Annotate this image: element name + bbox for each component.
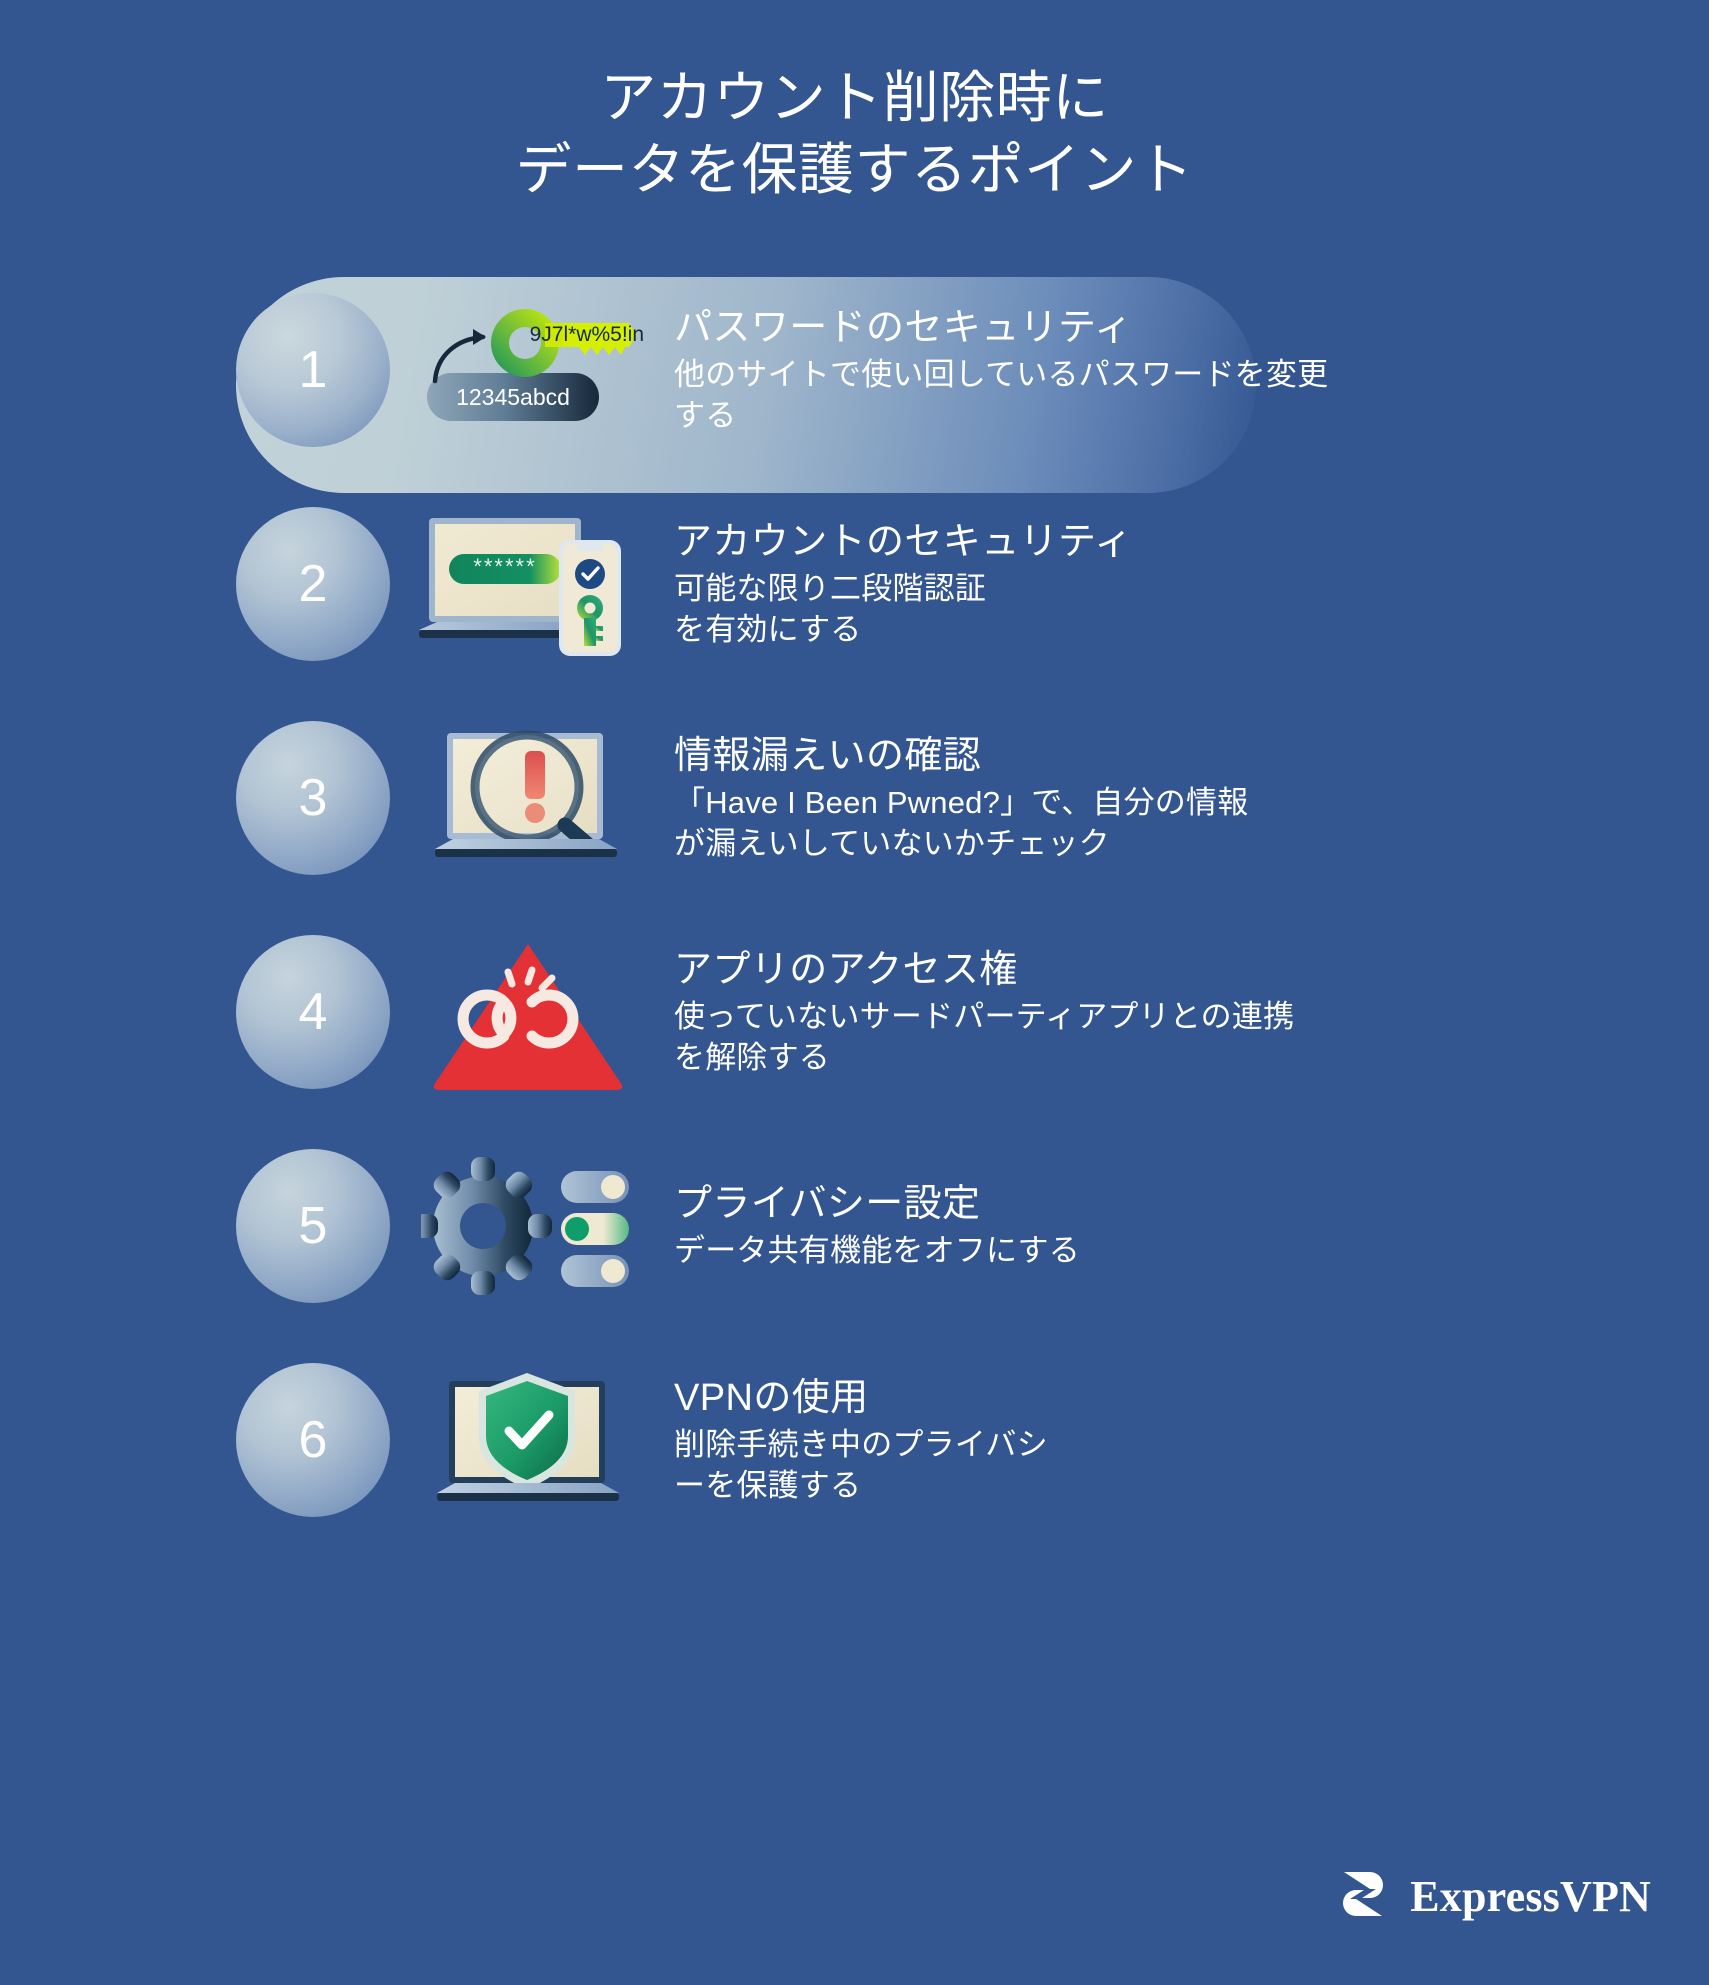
list-item-description: 削除手続き中のプライバシ ーを保護する (674, 1425, 1669, 1506)
laptop-phone-2fa-icon: ****** (408, 499, 648, 669)
page-title-line-1: アカウント削除時に (0, 62, 1709, 134)
expressvpn-logo-icon (1334, 1866, 1392, 1927)
step-number: 4 (299, 986, 328, 1038)
list-item-text: VPNの使用 削除手続き中のプライバシ ーを保護する (674, 1375, 1709, 1506)
key-password-icon: 12345abcd 9J7l*w%5!inQ (408, 285, 648, 455)
page-title-line-2: データを保護するポイント (0, 134, 1709, 206)
strong-password-label: 9J7l*w%5!inQ (530, 323, 643, 346)
list-item-text: アカウントのセキュリティ 可能な限り二段階認証 を有効にする (674, 519, 1709, 650)
list-item-description: 可能な限り二段階認証 を有効にする (674, 569, 1669, 650)
broken-link-warning-icon (408, 927, 648, 1097)
list-item: 4 アプリのアクセス権 使っていないサードパーティアプリとの連携 を解除する (0, 905, 1709, 1119)
step-number: 6 (299, 1414, 328, 1466)
list-item-heading: パスワードのセキュリティ (674, 305, 1669, 351)
list-item-heading: 情報漏えいの確認 (674, 733, 1669, 779)
list-item: 2 (0, 477, 1709, 691)
list-item-heading: プライバシー設定 (674, 1181, 1669, 1227)
list-item-heading: アプリのアクセス権 (674, 947, 1669, 993)
weak-password-label: 12345abcd (456, 384, 570, 410)
gear-toggles-icon (408, 1141, 648, 1311)
list-item-heading: VPNの使用 (674, 1375, 1669, 1421)
step-number: 2 (299, 558, 328, 610)
step-number-badge: 1 (236, 293, 390, 447)
brand-name: ExpressVPN (1410, 1871, 1651, 1922)
laptop-shield-check-icon (408, 1355, 648, 1525)
step-number-badge: 3 (236, 721, 390, 875)
laptop-magnifier-alert-icon (408, 713, 648, 883)
list-item-text: アプリのアクセス権 使っていないサードパーティアプリとの連携 を解除する (674, 947, 1709, 1078)
list-item: 6 (0, 1333, 1709, 1547)
list-item-heading: アカウントのセキュリティ (674, 519, 1669, 565)
brand-footer: ExpressVPN (1334, 1866, 1651, 1927)
list-item: 1 12345abcd (0, 263, 1709, 477)
list-item-description: 使っていないサードパーティアプリとの連携 を解除する (674, 997, 1669, 1078)
list-item-text: プライバシー設定 データ共有機能をオフにする (674, 1181, 1709, 1272)
list-item: 3 (0, 691, 1709, 905)
list-item: 5 (0, 1119, 1709, 1333)
step-number: 1 (299, 344, 328, 396)
step-number: 5 (299, 1200, 328, 1252)
list-item-description: 「Have I Been Pwned?」で、自分の情報 が漏えいしていないかチェ… (674, 783, 1669, 864)
step-number: 3 (299, 772, 328, 824)
list-item-description: データ共有機能をオフにする (674, 1231, 1669, 1271)
step-number-badge: 6 (236, 1363, 390, 1517)
list-item-description: 他のサイトで使い回しているパスワードを変更 する (674, 355, 1669, 436)
list-item-text: パスワードのセキュリティ 他のサイトで使い回しているパスワードを変更 する (674, 305, 1709, 436)
step-number-badge: 4 (236, 935, 390, 1089)
step-number-badge: 2 (236, 507, 390, 661)
step-number-badge: 5 (236, 1149, 390, 1303)
page-title: アカウント削除時に データを保護するポイント (0, 0, 1709, 205)
list-item-text: 情報漏えいの確認 「Have I Been Pwned?」で、自分の情報 が漏え… (674, 733, 1709, 864)
password-mask-label: ****** (473, 554, 536, 579)
tips-list: 1 12345abcd (0, 263, 1709, 1547)
